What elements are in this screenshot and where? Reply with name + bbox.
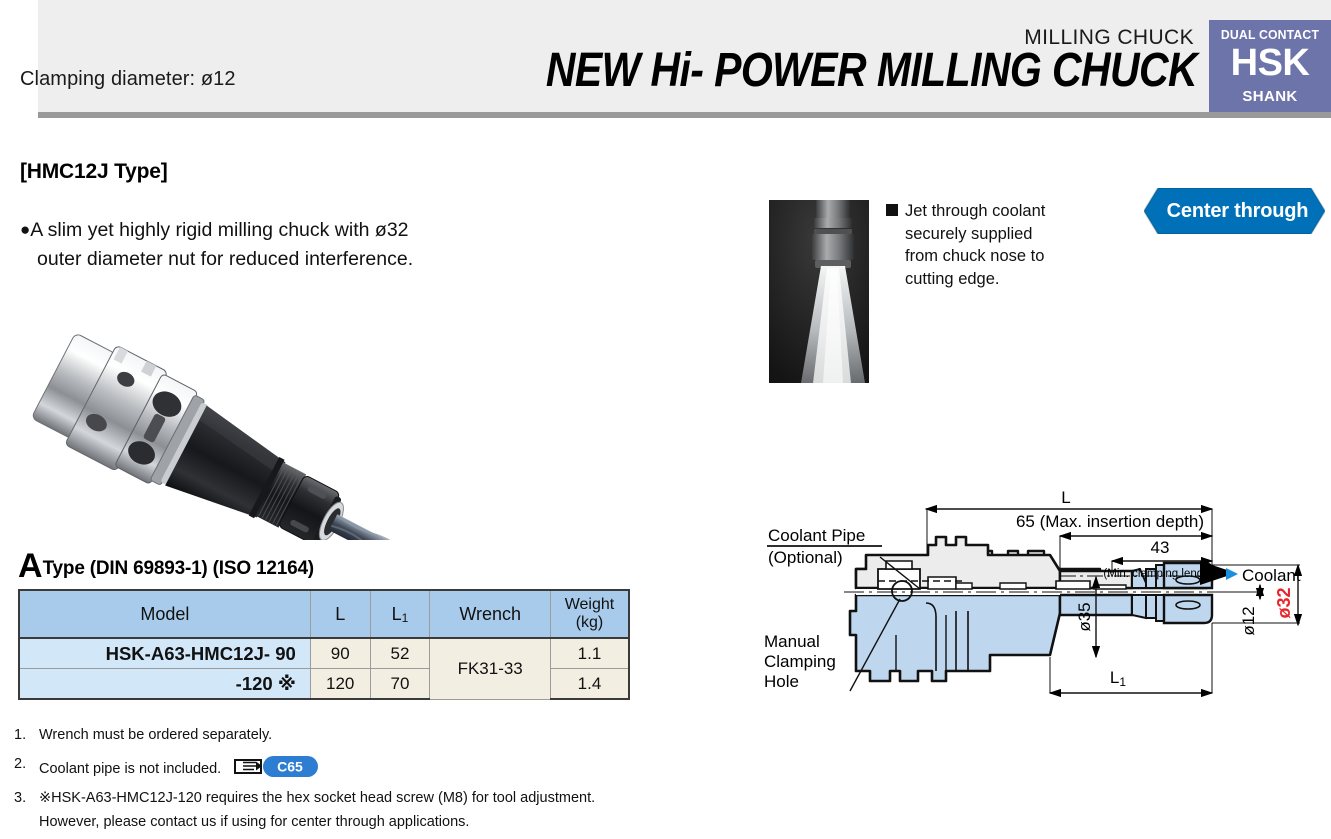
feature-description: ●A slim yet highly rigid milling chuck w…	[20, 215, 540, 274]
cell-wrench: FK31-33	[430, 638, 551, 699]
technical-drawing: Coolant Pipe (Optional) Manual Clamping …	[760, 485, 1331, 707]
coolant-jet-photo	[769, 200, 869, 383]
type-heading: [HMC12J Type]	[20, 160, 168, 184]
badge-shank-label: SHANK	[1209, 88, 1331, 105]
atype-standard-text: Type (DIN 69893-1) (ISO 12164)	[43, 558, 314, 579]
feature-line-2: outer diameter nut for reduced interfere…	[20, 245, 540, 274]
footnote-number: 2.	[14, 752, 26, 776]
header-divider-rule	[38, 112, 1331, 118]
footnote-number: 3.	[14, 786, 26, 810]
th-weight-line1: Weight	[551, 596, 628, 614]
footnote-text: ※HSK-A63-HMC12J-120 requires the hex soc…	[39, 790, 595, 806]
footnote-number: 1.	[14, 723, 26, 747]
dim-L1: L1	[1110, 668, 1126, 689]
footnotes-list: 1. Wrench must be ordered separately. 2.…	[14, 723, 654, 839]
dim-43: 43	[1151, 538, 1170, 557]
dim-L: L	[1061, 488, 1070, 507]
dim-d12: ø12	[1239, 606, 1258, 635]
cell-model: HSK-A63-HMC12J- 90	[19, 638, 310, 669]
dim-65: 65 (Max. insertion depth)	[1016, 512, 1204, 531]
clamping-diameter-label: Clamping diameter: ø12	[20, 68, 236, 91]
th-wrench: Wrench	[430, 590, 551, 638]
label-manual-1: Manual	[764, 632, 820, 651]
cell-l: 120	[310, 669, 370, 700]
page-title: NEW Hi- POWER MILLING CHUCK	[546, 43, 1197, 98]
footnote-2: 2. Coolant pipe is not included. C65	[14, 752, 654, 781]
square-bullet-icon	[886, 204, 898, 216]
page-reference-badge-c65[interactable]: C65	[232, 756, 318, 777]
atype-letter: A	[18, 547, 43, 585]
product-photo	[30, 278, 500, 540]
footnote-1: 1. Wrench must be ordered separately.	[14, 723, 654, 747]
badge-hsk-label: HSK	[1209, 43, 1331, 83]
label-manual-3: Hole	[764, 672, 799, 691]
bullet-dot-icon: ●	[20, 220, 30, 239]
badge-dual-contact-label: DUAL CONTACT	[1213, 27, 1328, 42]
jet-coolant-description: Jet through coolant securely supplied fr…	[886, 200, 1111, 290]
jet-line-1: Jet through coolant	[886, 200, 1111, 223]
feature-line-1: A slim yet highly rigid milling chuck wi…	[30, 219, 408, 241]
center-through-label: Center through	[1144, 188, 1325, 234]
specification-table: Model L L1 Wrench Weight (kg) HSK-A63-HM…	[18, 589, 630, 700]
footnote-text: Coolant pipe is not included.	[39, 761, 221, 777]
atype-caption: AType (DIN 69893-1) (ISO 12164)	[18, 549, 314, 583]
hsk-shank-badge: DUAL CONTACT HSK SHANK	[1209, 20, 1331, 112]
cell-weight: 1.1	[550, 638, 629, 669]
cell-l1: 52	[370, 638, 430, 669]
dim-d35: ø35	[1075, 602, 1094, 631]
dim-min-clamping-length: (Min. clamping length)	[1103, 568, 1216, 580]
label-optional: (Optional)	[768, 548, 843, 567]
th-l1: L1	[370, 590, 430, 638]
footnote-3: 3. ※HSK-A63-HMC12J-120 requires the hex …	[14, 786, 654, 834]
reference-badge-label: C65	[277, 759, 303, 775]
label-coolant-pipe: Coolant Pipe	[768, 526, 865, 545]
label-coolant: Coolant	[1242, 566, 1301, 585]
pointing-hand-icon	[235, 760, 262, 773]
jet-line-4: cutting edge.	[886, 268, 1111, 291]
cell-l: 90	[310, 638, 370, 669]
cell-model: -120 ※	[19, 669, 310, 700]
label-manual-2: Clamping	[764, 652, 836, 671]
cell-weight: 1.4	[550, 669, 629, 700]
footnote-text: Wrench must be ordered separately.	[39, 727, 272, 743]
table-header-row: Model L L1 Wrench Weight (kg)	[19, 590, 629, 638]
footnote-continuation: However, please contact us if using for …	[39, 810, 654, 834]
th-weight: Weight (kg)	[550, 590, 629, 638]
th-weight-line2: (kg)	[551, 614, 628, 632]
th-l: L	[310, 590, 370, 638]
center-through-badge: Center through	[1144, 188, 1325, 234]
table-row: HSK-A63-HMC12J- 90 90 52 FK31-33 1.1	[19, 638, 629, 669]
th-model: Model	[19, 590, 310, 638]
jet-line-3: from chuck nose to	[886, 245, 1111, 268]
cell-l1: 70	[370, 669, 430, 700]
jet-line-2: securely supplied	[886, 223, 1111, 246]
dim-d32: ø32	[1274, 587, 1294, 618]
